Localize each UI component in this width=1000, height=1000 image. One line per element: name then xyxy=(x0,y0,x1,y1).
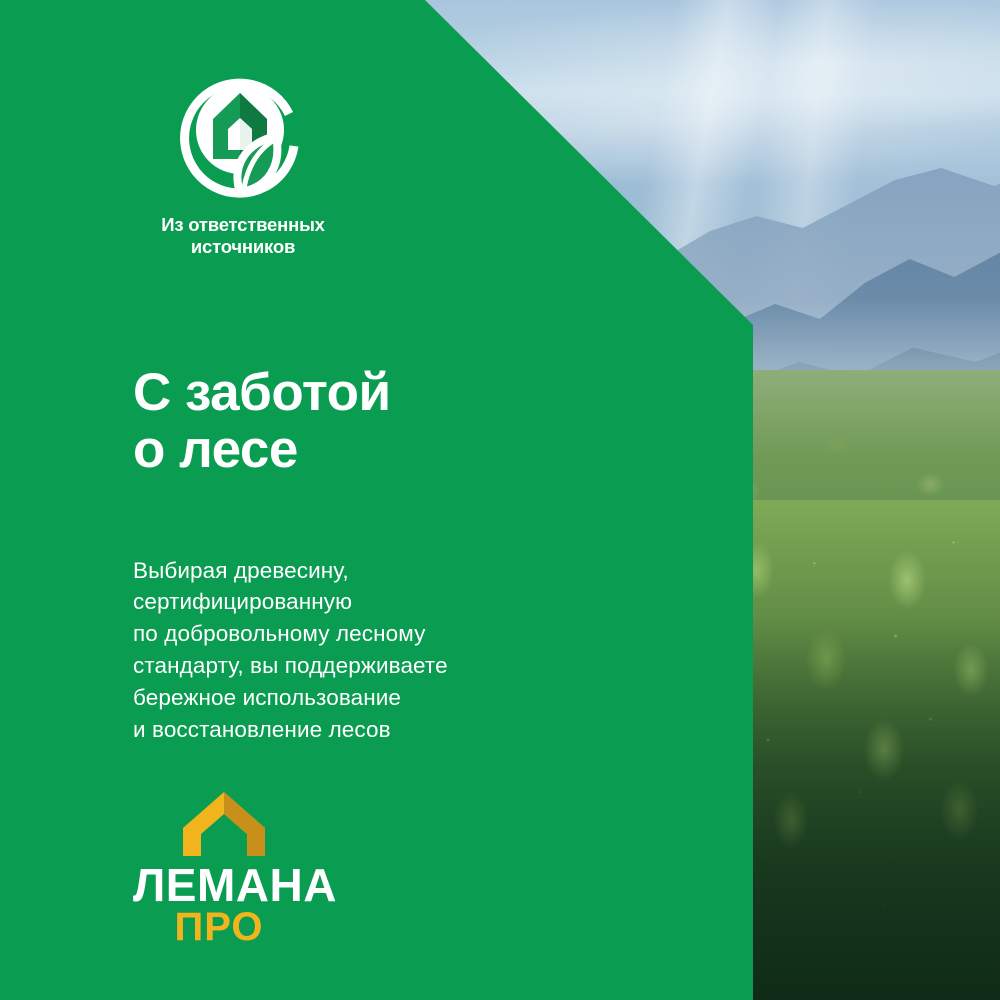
brand-name: ЛЕМАНА xyxy=(133,864,313,907)
badge-caption: Из ответственных источников xyxy=(133,214,353,258)
badge-mark-svg xyxy=(172,62,314,204)
brand-sub: ПРО xyxy=(133,907,305,947)
badge-mark xyxy=(172,62,314,204)
badge-caption-line1: Из ответственных xyxy=(133,214,353,236)
poster-root: Из ответственных источников С заботой о … xyxy=(0,0,1000,1000)
lemana-house-icon xyxy=(181,790,267,858)
brand-lockup: ЛЕМАНА ПРО xyxy=(133,790,313,947)
badge-caption-line2: источников xyxy=(133,236,353,258)
responsible-sources-badge: Из ответственных источников xyxy=(133,62,353,258)
content-column: Из ответственных источников С заботой о … xyxy=(0,0,753,1000)
lemana-house-right xyxy=(224,792,265,856)
body-paragraph: Выбирая древесину, сертифицированную по … xyxy=(133,555,448,747)
page-title: С заботой о лесе xyxy=(133,364,391,478)
